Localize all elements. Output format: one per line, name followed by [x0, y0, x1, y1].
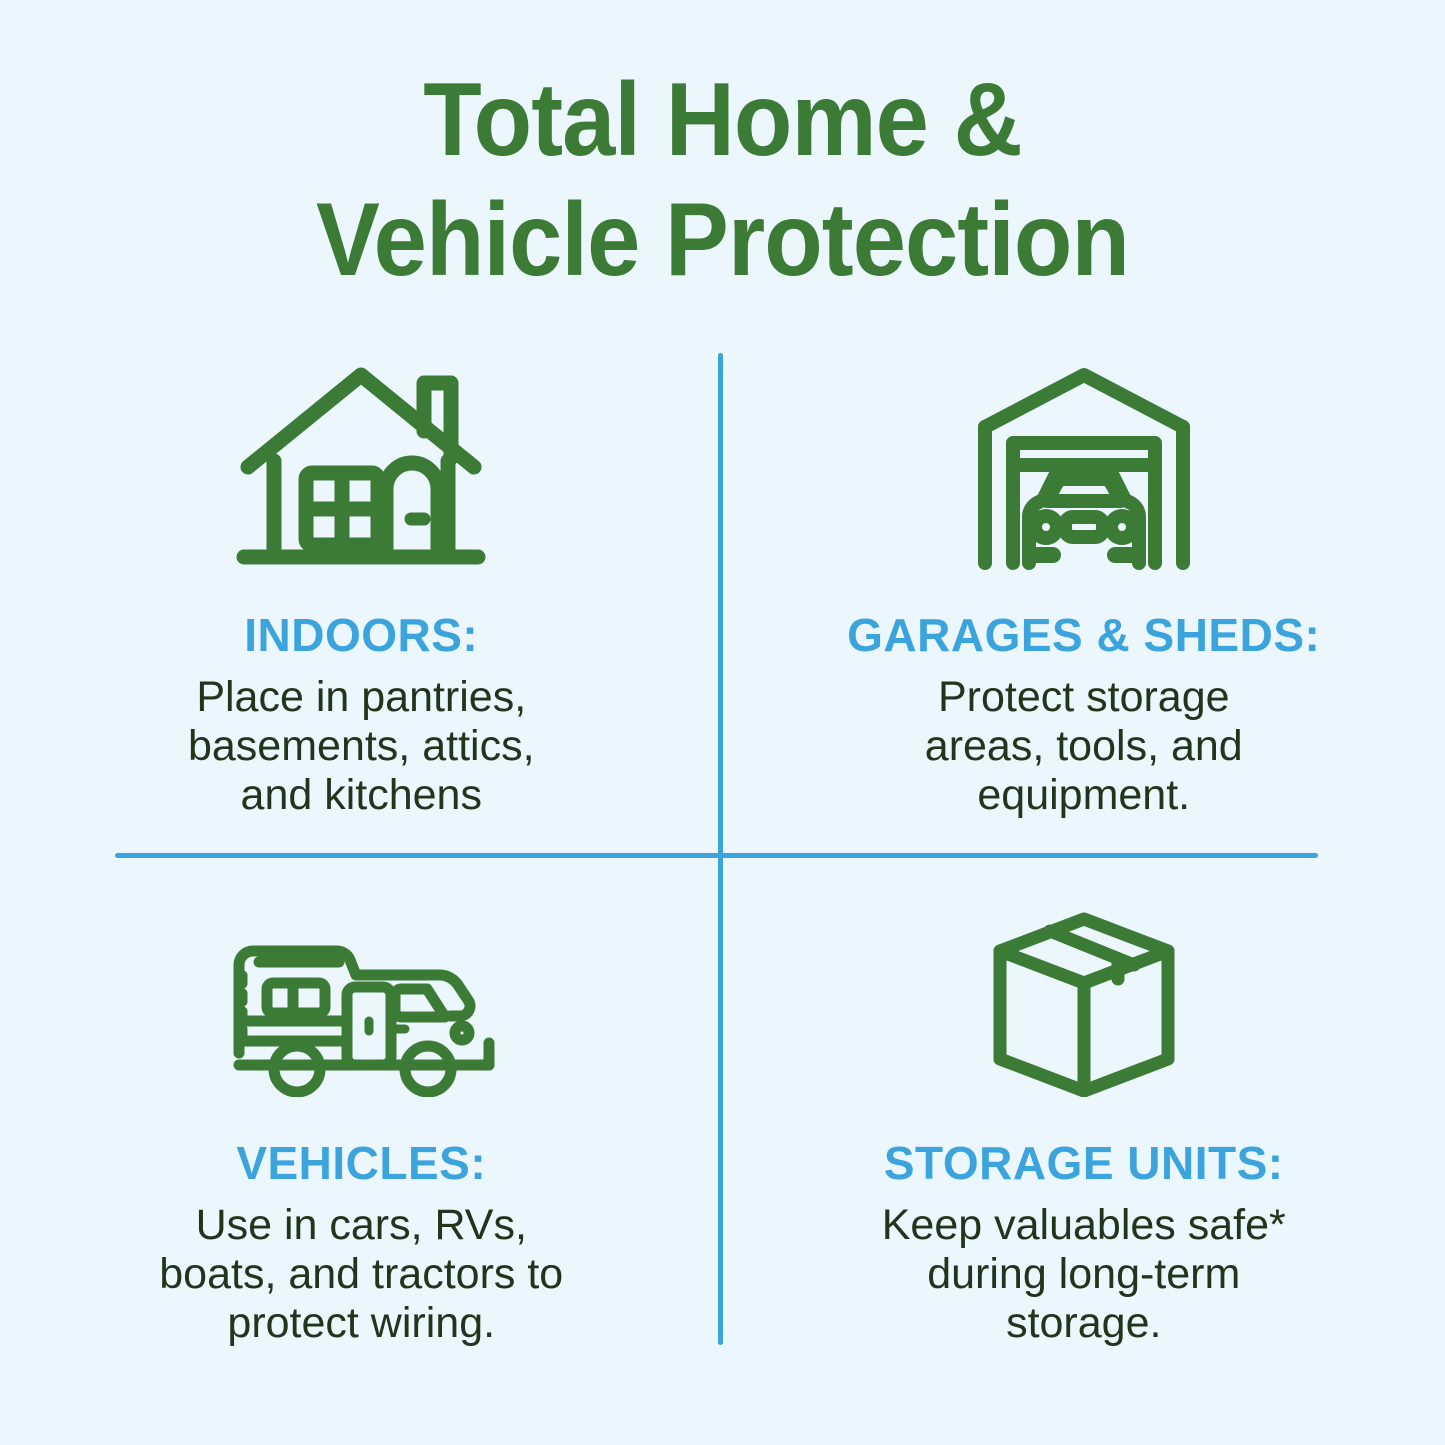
- quadrant-heading-indoors: INDOORS:: [244, 609, 478, 661]
- quadrant-heading-storage-units: STORAGE UNITS:: [884, 1137, 1284, 1189]
- quadrant-body-vehicles: Use in cars, RVs, boats, and tractors to…: [151, 1201, 571, 1348]
- page-title: Total Home & Vehicle Protection: [0, 68, 1445, 292]
- quadrant-indoors: INDOORS: Place in pantries, basements, a…: [0, 340, 723, 850]
- quadrant-body-garages-sheds: Protect storage areas, tools, and equipm…: [874, 673, 1294, 820]
- quadrant-garages-sheds: GARAGES & SHEDS: Protect storage areas, …: [723, 340, 1445, 850]
- infographic-poster: Total Home & Vehicle Protection: [0, 0, 1445, 1445]
- garage-with-car-icon: [973, 358, 1195, 573]
- rv-camper-icon: [223, 912, 499, 1097]
- quadrant-grid: INDOORS: Place in pantries, basements, a…: [0, 340, 1445, 1360]
- quadrant-body-indoors: Place in pantries, basements, attics, an…: [151, 673, 571, 820]
- quadrant-body-storage-units: Keep valuables safe* during long-term st…: [849, 1201, 1319, 1348]
- cardboard-box-icon: [988, 912, 1180, 1097]
- quadrant-storage-units: STORAGE UNITS: Keep valuables safe* duri…: [723, 850, 1445, 1360]
- title-line-2: Vehicle Protection: [58, 188, 1387, 292]
- house-icon: [236, 358, 486, 573]
- quadrant-heading-garages-sheds: GARAGES & SHEDS:: [847, 609, 1320, 661]
- quadrant-heading-vehicles: VEHICLES:: [236, 1137, 486, 1189]
- quadrant-vehicles: VEHICLES: Use in cars, RVs, boats, and t…: [0, 850, 723, 1360]
- title-line-1: Total Home &: [58, 68, 1387, 172]
